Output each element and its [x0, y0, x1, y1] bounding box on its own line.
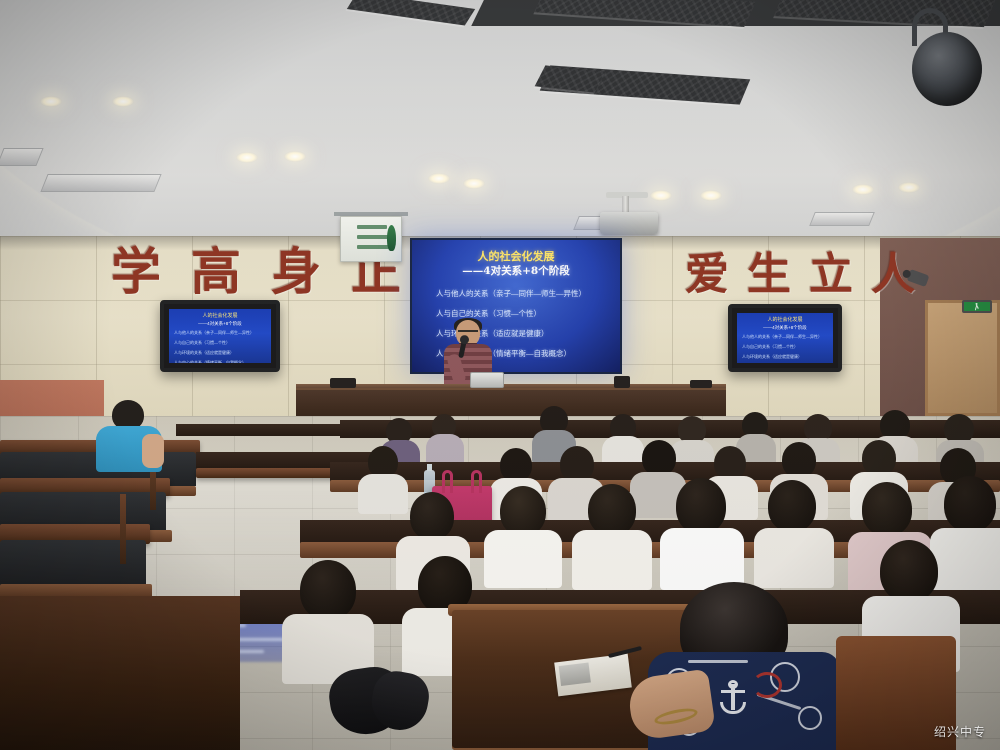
ceiling: [0, 0, 1000, 250]
wall-char-right-2: 生: [738, 248, 800, 302]
downlight-1: [40, 96, 62, 107]
podium-equipment-1: [330, 378, 356, 388]
foreground-attendee: [640, 582, 840, 750]
left-monitor-title: 人的社会化发展: [174, 313, 266, 320]
head: [410, 492, 454, 540]
right-monitor: 人的社会化发展 ——4对关系+8个阶段 人与他人的关系（亲子—同伴—师生—异性）…: [728, 304, 842, 372]
head: [300, 560, 356, 620]
downlight-5: [428, 173, 450, 184]
banner-text-line-1: [357, 225, 387, 229]
slide-line-2: 人与自己的关系（习惯—个性）: [436, 308, 608, 319]
podium-equipment-3: [690, 380, 712, 388]
right-monitor-title: 人的社会化发展: [742, 317, 828, 324]
attendee-arm: [142, 434, 164, 468]
head: [588, 484, 636, 536]
podium-laptop: [470, 372, 504, 388]
head: [500, 448, 532, 482]
wall-motto-right: 爱 生 立 人: [676, 248, 924, 302]
ceiling-vent-4: [809, 212, 875, 226]
wall-char-right-4: 人: [862, 248, 924, 302]
hanging-banner: [340, 216, 402, 262]
exit-door[interactable]: [925, 300, 1000, 416]
banner-leaf-icon: [387, 225, 396, 251]
left-monitor-line-2: 人与自己的关系（习惯—个性）: [174, 339, 266, 347]
torso: [930, 528, 1000, 594]
running-man-icon: [975, 303, 980, 311]
print-motif-3: [798, 706, 822, 730]
downlight-8: [700, 190, 722, 201]
downlight-10: [898, 182, 920, 193]
left-monitor-line-3: 人与环境的关系（适应就是健康）: [174, 349, 266, 357]
slide-title: 人的社会化发展: [424, 250, 608, 264]
left-monitor-line-4: 人与内心的关系（情绪平衡—自我概念）: [174, 359, 266, 363]
head: [768, 480, 816, 532]
downlight-4: [284, 151, 306, 162]
wall-char-left-2: 高: [176, 243, 256, 301]
head: [714, 446, 746, 480]
attendee-cyan-polo: [92, 400, 164, 472]
print-chain-1: [688, 660, 748, 663]
downlight-7: [650, 190, 672, 201]
ceiling-vent-1: [40, 174, 161, 192]
wall-char-right-1: 爱: [676, 248, 738, 302]
head: [862, 482, 912, 536]
watermark: 绍兴中专: [934, 723, 986, 740]
torso: [754, 528, 834, 588]
foreground-bench-left: [0, 596, 240, 750]
torso: [572, 530, 652, 590]
glasses-icon: [458, 330, 478, 334]
wall-char-left-3: 身: [256, 243, 336, 301]
left-monitor: 人的社会化发展 ——4对关系+8个阶段 人与他人的关系（亲子—同伴—师生—异性）…: [160, 300, 280, 372]
right-monitor-line-2: 人与自己的关系（习惯—个性）: [742, 343, 828, 351]
head: [642, 440, 676, 476]
head: [676, 478, 726, 534]
torso: [484, 530, 562, 588]
torso: [358, 474, 408, 514]
anchor-print-icon: [718, 680, 748, 714]
head: [500, 486, 546, 536]
podium-equipment-2: [614, 376, 630, 388]
wall-char-left-1: 学: [96, 243, 176, 301]
downlight-2: [112, 96, 134, 107]
right-monitor-screen: 人的社会化发展 ——4对关系+8个阶段 人与他人的关系（亲子—同伴—师生—异性）…: [737, 313, 833, 363]
slide-subtitle: ——4对关系+8个阶段: [424, 264, 608, 279]
left-monitor-line-1: 人与他人的关系（亲子—同伴—师生—异性）: [174, 329, 266, 337]
chair-post-left-2: [120, 494, 126, 564]
head: [782, 442, 816, 478]
downlight-6: [463, 178, 485, 189]
ceiling-projector: [600, 212, 658, 234]
wall-char-right-3: 立: [800, 248, 862, 302]
anchor-crossbar: [721, 690, 745, 693]
downlight-9: [852, 184, 874, 195]
lecture-hall-photo: 学 高 身 正 爱 生 立 人 人的社会化发展 ——4对关系+8个阶段 人与他人…: [0, 0, 1000, 750]
left-monitor-screen: 人的社会化发展 ——4对关系+8个阶段 人与他人的关系（亲子—同伴—师生—异性）…: [169, 309, 271, 363]
head: [880, 540, 938, 602]
slide-line-1: 人与他人的关系（亲子—同伴—师生—异性）: [436, 288, 608, 299]
torso: [660, 528, 744, 590]
exit-sign-icon: [962, 300, 992, 313]
right-monitor-subtitle: ——4对关系+8个阶段: [742, 324, 828, 331]
right-monitor-line-3: 人与环境的关系（适应就是健康）: [742, 353, 828, 361]
left-monitor-subtitle: ——4对关系+8个阶段: [174, 320, 266, 327]
downlight-3: [236, 152, 258, 163]
ceiling-vent-2: [0, 148, 44, 166]
right-monitor-line-1: 人与他人的关系（亲子—同伴—师生—异性）: [742, 333, 828, 341]
banner-text-line-2: [357, 235, 391, 239]
head: [560, 446, 594, 482]
head: [944, 476, 996, 532]
ceiling-speaker-icon: [912, 32, 982, 106]
print-red-accent: [752, 672, 782, 698]
anchor-flukes: [720, 702, 746, 714]
head: [862, 440, 896, 476]
banner-text-line-3: [357, 245, 389, 249]
foreground-attendee-arm: [626, 669, 716, 742]
